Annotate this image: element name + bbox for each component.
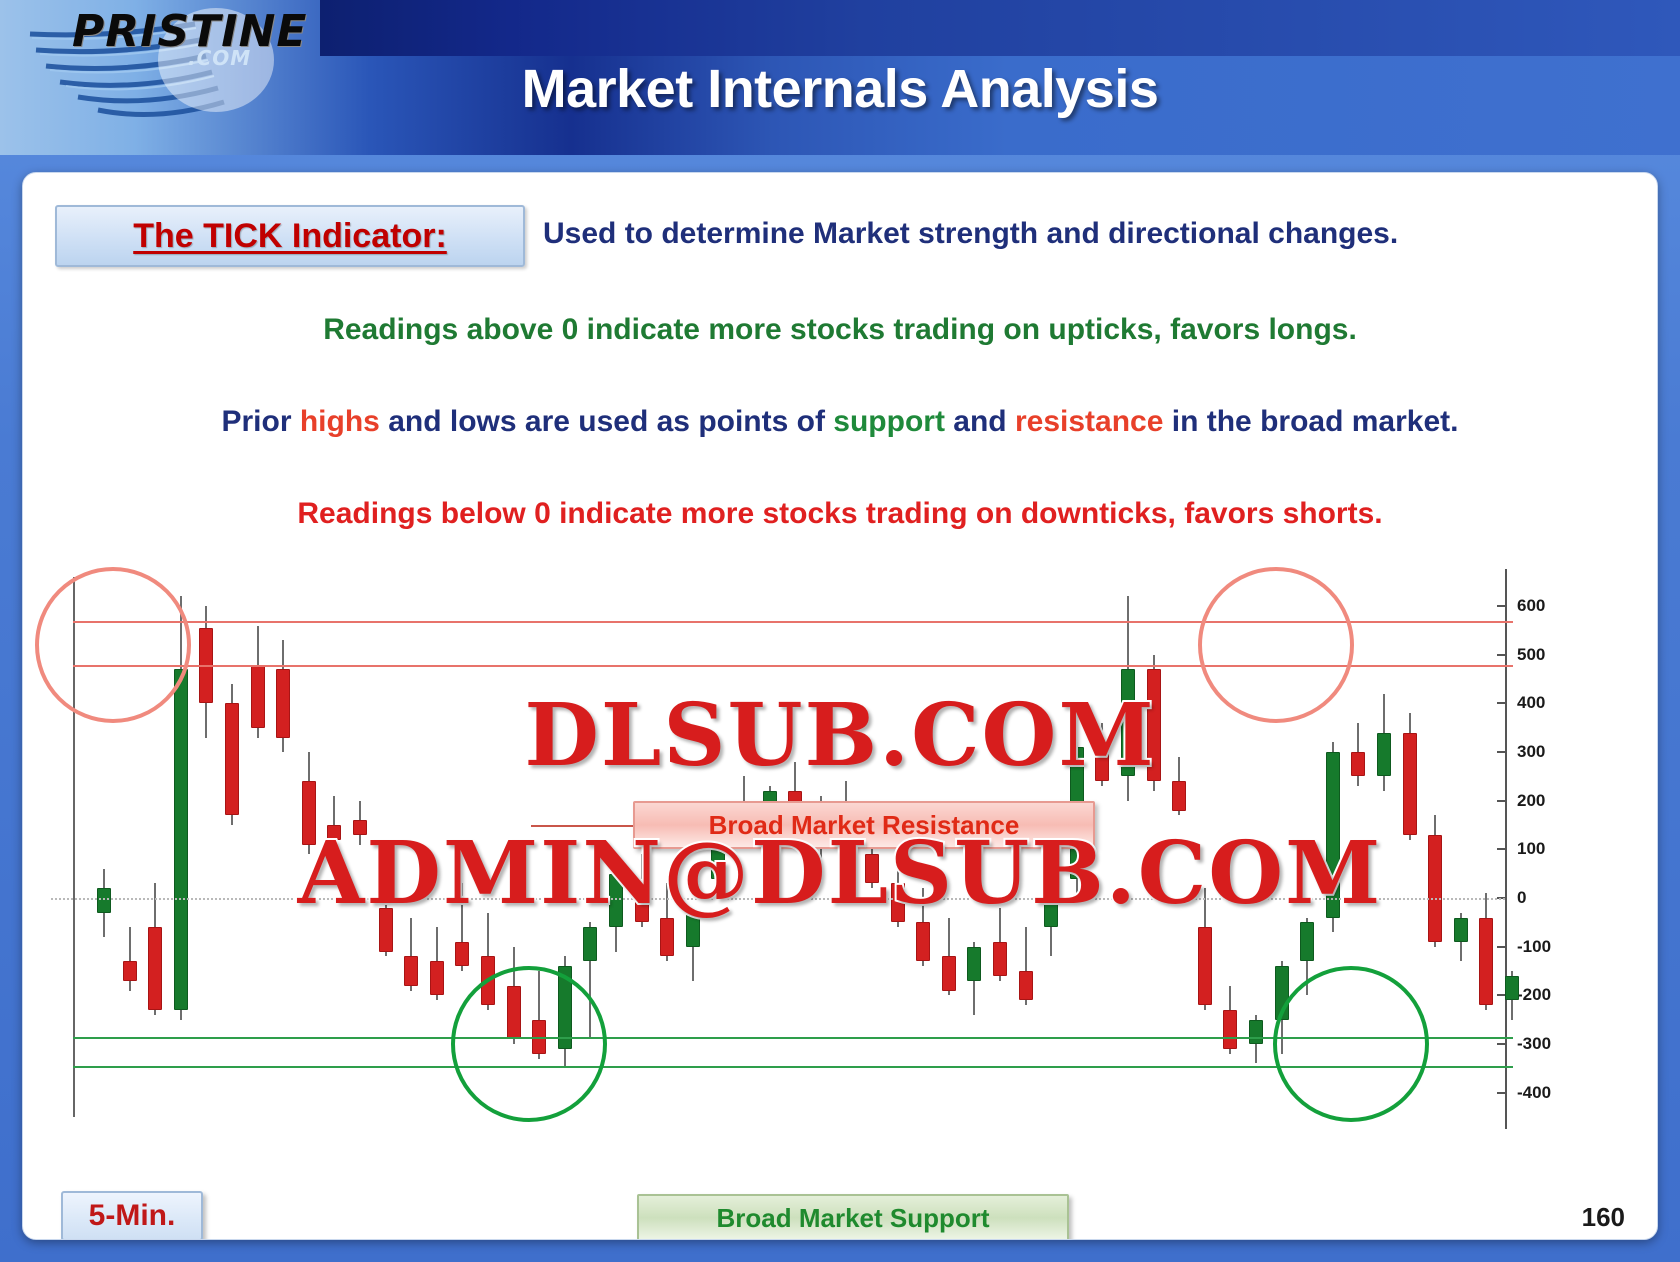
mid-support: support — [833, 405, 945, 438]
candle-body-up — [609, 874, 623, 928]
candle-body-down — [891, 883, 905, 922]
candlestick — [1172, 569, 1186, 1117]
candle-body-down — [1019, 971, 1033, 1000]
header-dark-cap — [320, 0, 1680, 56]
candle-body-down — [916, 922, 930, 961]
candlestick — [302, 569, 316, 1117]
y-tick-label: -200 — [1517, 985, 1551, 1005]
y-tick-label: 200 — [1517, 791, 1545, 811]
candle-body-up — [174, 669, 188, 1010]
page-number: 160 — [1582, 1202, 1625, 1233]
candle-wick — [129, 927, 131, 990]
candle-body-down — [123, 961, 137, 980]
tick-indicator-label: The TICK Indicator: — [133, 217, 447, 256]
candle-body-down — [1198, 927, 1212, 1005]
candlestick — [353, 569, 367, 1117]
highlight-circle — [1273, 966, 1429, 1122]
mid-resistance: resistance — [1015, 405, 1163, 438]
candle-body-down — [635, 883, 649, 922]
candle-body-down — [1351, 752, 1365, 776]
mid-part-1: Prior — [222, 405, 300, 438]
candle-body-down — [353, 820, 367, 835]
candle-body-down — [251, 665, 265, 728]
candle-body-down — [993, 942, 1007, 976]
timeframe-chip: 5-Min. — [61, 1191, 203, 1240]
candle-body-down — [660, 918, 674, 957]
candle-wick — [333, 796, 335, 850]
candlestick — [1095, 569, 1109, 1117]
mid-part-2: and lows are used as points of — [380, 405, 833, 438]
candlestick — [379, 569, 393, 1117]
candle-body-down — [1095, 747, 1109, 781]
content-card: The TICK Indicator: Used to determine Ma… — [22, 172, 1658, 1240]
candle-body-down — [302, 781, 316, 844]
candle-body-down — [430, 961, 444, 995]
candle-body-up — [1326, 752, 1340, 917]
slide-root: PRISTINE .COM Market Internals Analysis … — [0, 0, 1680, 1262]
tick-description: Used to determine Market strength and di… — [543, 217, 1398, 251]
candle-body-up — [1454, 918, 1468, 942]
y-tick-label: -400 — [1517, 1083, 1551, 1103]
candle-body-up — [1044, 883, 1058, 927]
logo-wordmark: PRISTINE — [72, 6, 307, 57]
candlestick — [251, 569, 265, 1117]
support-resistance-line: Prior highs and lows are used as points … — [23, 405, 1657, 439]
mid-highs: highs — [300, 405, 380, 438]
candlestick — [1121, 569, 1135, 1117]
candle-body-down — [1428, 835, 1442, 942]
candle-body-down — [1479, 918, 1493, 1006]
candlestick — [199, 569, 213, 1117]
y-tick-label: 300 — [1517, 742, 1545, 762]
candle-body-up — [1121, 669, 1135, 776]
candle-body-up — [583, 927, 597, 961]
candle-body-down — [379, 908, 393, 952]
candle-body-down — [148, 927, 162, 1010]
candle-body-down — [1403, 733, 1417, 835]
page-title: Market Internals Analysis — [0, 58, 1680, 120]
y-tick-label: 400 — [1517, 693, 1545, 713]
candle-body-down — [276, 669, 290, 737]
candle-body-up — [967, 947, 981, 981]
resistance-leader-line — [531, 825, 635, 827]
candle-body-down — [865, 854, 879, 883]
candle-body-up — [1249, 1020, 1263, 1044]
y-tick-label: -100 — [1517, 937, 1551, 957]
resistance-chip: Broad Market Resistance — [633, 801, 1095, 849]
tick-candlestick-chart: 6005004003002001000-100-200-300-400 Broa… — [51, 569, 1627, 1169]
candle-body-up — [686, 913, 700, 947]
support-chip: Broad Market Support — [637, 1194, 1069, 1240]
candlestick — [1147, 569, 1161, 1117]
y-tick-label: 500 — [1517, 645, 1545, 665]
y-tick-label: -300 — [1517, 1034, 1551, 1054]
downtick-line: Readings below 0 indicate more stocks tr… — [23, 497, 1657, 531]
candlestick — [1454, 569, 1468, 1117]
candlestick — [609, 569, 623, 1117]
candlestick — [430, 569, 444, 1117]
y-tick-label: 600 — [1517, 596, 1545, 616]
candlestick — [225, 569, 239, 1117]
candlestick — [1428, 569, 1442, 1117]
candle-body-down — [327, 825, 341, 840]
candle-body-down — [225, 703, 239, 815]
candlestick — [1505, 569, 1519, 1117]
header-band: PRISTINE .COM Market Internals Analysis — [0, 0, 1680, 155]
candle-body-down — [1147, 669, 1161, 781]
candlestick — [276, 569, 290, 1117]
candlestick — [327, 569, 341, 1117]
mid-part-3: and — [945, 405, 1015, 438]
uptick-line: Readings above 0 indicate more stocks tr… — [23, 313, 1657, 347]
highlight-circle — [451, 966, 607, 1122]
mid-part-4: in the broad market. — [1163, 405, 1458, 438]
candle-body-down — [1172, 781, 1186, 810]
highlight-circle — [35, 567, 191, 723]
candle-body-up — [1505, 976, 1519, 1000]
candle-body-down — [1223, 1010, 1237, 1049]
reference-line — [51, 898, 1505, 900]
candlestick — [1479, 569, 1493, 1117]
highlight-circle — [1198, 567, 1354, 723]
candle-body-up — [1300, 922, 1314, 961]
candle-body-down — [404, 956, 418, 985]
candle-body-down — [942, 956, 956, 990]
y-tick-label: 100 — [1517, 839, 1545, 859]
candle-body-up — [97, 888, 111, 912]
tick-indicator-box: The TICK Indicator: — [55, 205, 525, 267]
candle-body-up — [1377, 733, 1391, 777]
candlestick — [404, 569, 418, 1117]
candle-body-down — [455, 942, 469, 966]
